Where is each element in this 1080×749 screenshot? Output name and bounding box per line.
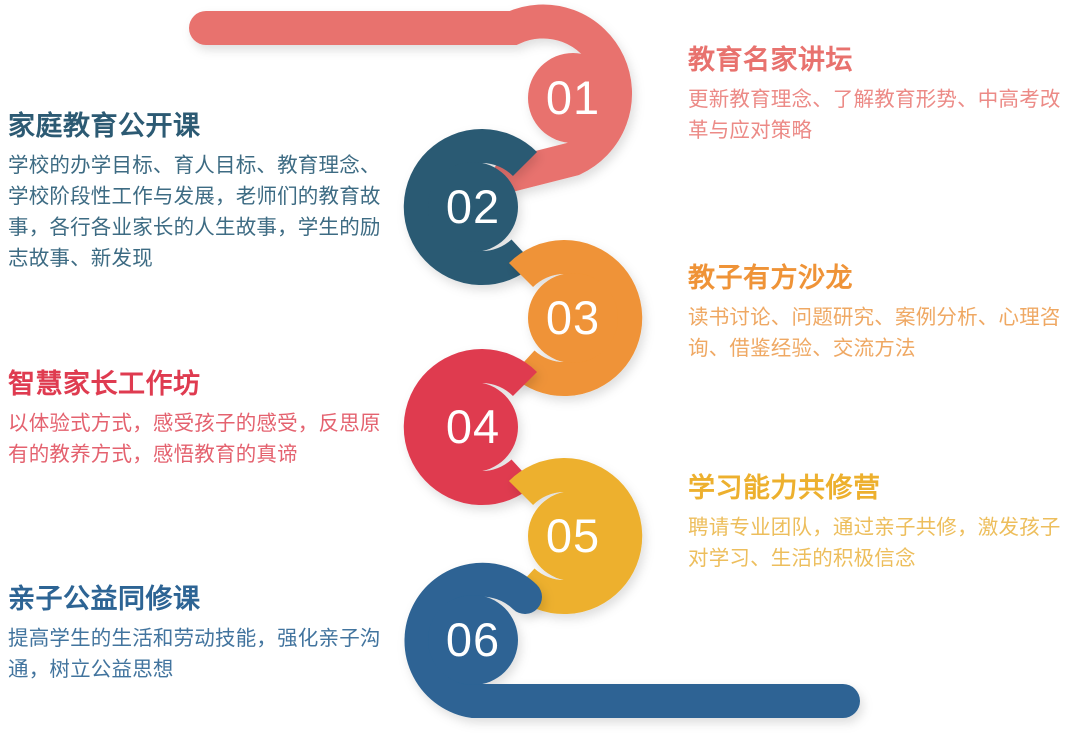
step-number-06: 06 [427, 616, 519, 663]
item-text-05: 学习能力共修营 聘请专业团队，通过亲子共修，激发孩子对学习、生活的积极信念 [688, 472, 1080, 574]
item-title-01: 教育名家讲坛 [688, 44, 1080, 78]
item-desc-03: 读书讨论、问题研究、案例分析、心理咨询、借鉴经验、交流方法 [688, 302, 1080, 364]
item-title-03: 教子有方沙龙 [688, 262, 1080, 296]
item-title-05: 学习能力共修营 [688, 472, 1080, 506]
step-number-02: 02 [427, 183, 519, 230]
item-desc-06: 提高学生的生活和劳动技能，强化亲子沟通，树立公益思想 [8, 623, 386, 685]
item-title-06: 亲子公益同修课 [8, 583, 386, 617]
item-text-02: 家庭教育公开课 学校的办学目标、育人目标、教育理念、学校阶段性工作与发展，老师们… [8, 110, 386, 274]
step-number-03: 03 [527, 294, 619, 341]
item-desc-01: 更新教育理念、了解教育形势、中高考改革与应对策略 [688, 84, 1080, 146]
step-number-05: 05 [527, 512, 619, 559]
item-text-04: 智慧家长工作坊 以体验式方式，感受孩子的感受，反思原有的教养方式，感悟教育的真谛 [8, 368, 386, 470]
item-desc-05: 聘请专业团队，通过亲子共修，激发孩子对学习、生活的积极信念 [688, 512, 1080, 574]
item-desc-02: 学校的办学目标、育人目标、教育理念、学校阶段性工作与发展，老师们的教育故事，各行… [8, 150, 386, 275]
step-number-01: 01 [527, 74, 619, 121]
step-number-04: 04 [427, 403, 519, 450]
item-desc-04: 以体验式方式，感受孩子的感受，反思原有的教养方式，感悟教育的真谛 [8, 408, 386, 470]
item-text-03: 教子有方沙龙 读书讨论、问题研究、案例分析、心理咨询、借鉴经验、交流方法 [688, 262, 1080, 364]
item-title-02: 家庭教育公开课 [8, 110, 386, 144]
item-text-01: 教育名家讲坛 更新教育理念、了解教育形势、中高考改革与应对策略 [688, 44, 1080, 146]
infographic-root: 01 02 03 04 05 06 教育名家讲坛 更新教育理念、了解教育形势、中… [0, 0, 1080, 749]
item-title-04: 智慧家长工作坊 [8, 368, 386, 402]
item-text-06: 亲子公益同修课 提高学生的生活和劳动技能，强化亲子沟通，树立公益思想 [8, 583, 386, 685]
